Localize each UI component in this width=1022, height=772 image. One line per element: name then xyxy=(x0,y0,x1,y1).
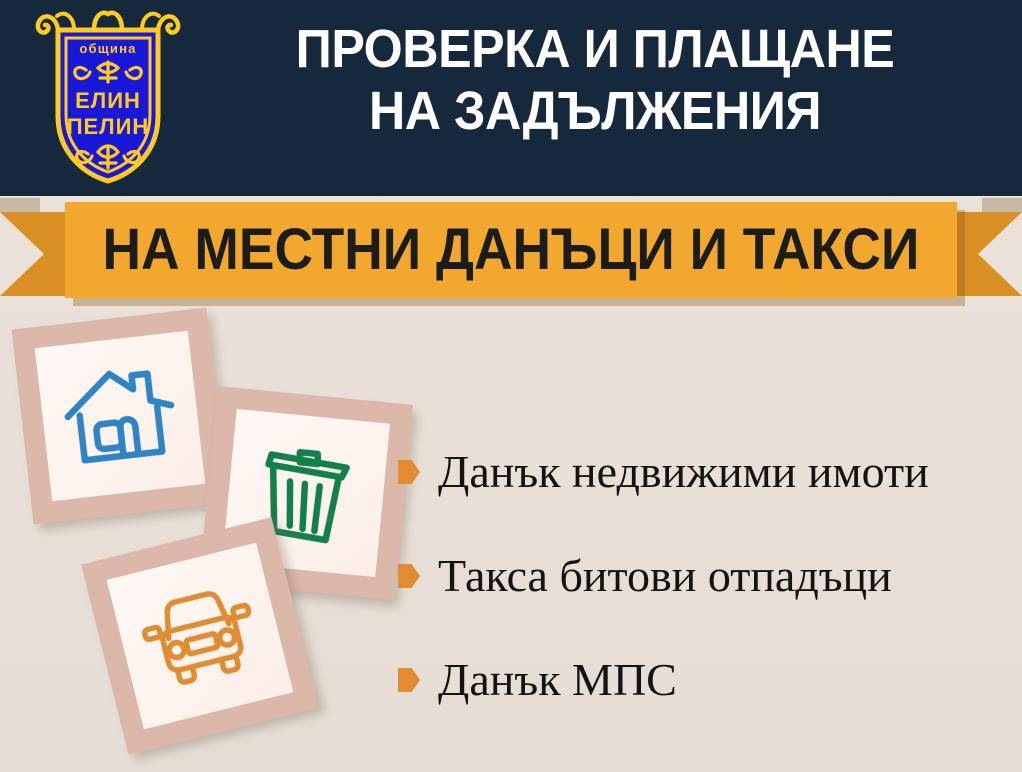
list-item-label: Такса битови отпадъци xyxy=(438,552,892,600)
ribbon-body: НА МЕСТНИ ДАНЪЦИ И ТАКСИ xyxy=(65,202,957,298)
poster-root: община ЕЛИН ПЕЛИН ПРОВЕРКА И ПЛАЩАНЕ НА … xyxy=(0,0,1022,772)
ribbon-label: НА МЕСТНИ ДАНЪЦИ И ТАКСИ xyxy=(103,221,920,279)
stamp-inner-house xyxy=(35,331,205,501)
list-item-label: Данък недвижими имоти xyxy=(438,448,929,496)
ribbon-tail-shadow-left xyxy=(0,198,40,212)
stamp-house xyxy=(12,308,229,525)
house-icon xyxy=(56,358,183,474)
ribbon-banner: НА МЕСТНИ ДАНЪЦИ И ТАКСИ xyxy=(0,198,1022,308)
ribbon-tail-shadow-right xyxy=(982,198,1022,212)
list-item[interactable]: Данък МПС xyxy=(398,628,1018,732)
title-line-2: НА ЗАДЪЛЖЕНИЯ xyxy=(218,80,971,142)
page-title: ПРОВЕРКА И ПЛАЩАНЕ НА ЗАДЪЛЖЕНИЯ xyxy=(190,18,1000,142)
logo-line-2: ПЕЛИН xyxy=(67,114,150,139)
tax-type-list: Данък недвижими имоти Такса битови отпад… xyxy=(398,420,1018,732)
header-bar: община ЕЛИН ПЕЛИН ПРОВЕРКА И ПЛАЩАНЕ НА … xyxy=(0,0,1022,196)
municipality-logo: община ЕЛИН ПЕЛИН xyxy=(28,8,188,188)
list-item-label: Данък МПС xyxy=(438,656,677,704)
list-item[interactable]: Такса битови отпадъци xyxy=(398,524,1018,628)
arrow-bullet-icon xyxy=(398,460,420,484)
list-item[interactable]: Данък недвижими имоти xyxy=(398,420,1018,524)
car-icon xyxy=(133,577,266,696)
arrow-bullet-icon xyxy=(398,668,420,692)
title-line-1: ПРОВЕРКА И ПЛАЩАНЕ xyxy=(218,18,971,80)
logo-line-small: община xyxy=(79,41,136,56)
logo-line-1: ЕЛИН xyxy=(75,88,141,113)
coat-of-arms-icon: община ЕЛИН ПЕЛИН xyxy=(28,8,188,188)
arrow-bullet-icon xyxy=(398,564,420,588)
